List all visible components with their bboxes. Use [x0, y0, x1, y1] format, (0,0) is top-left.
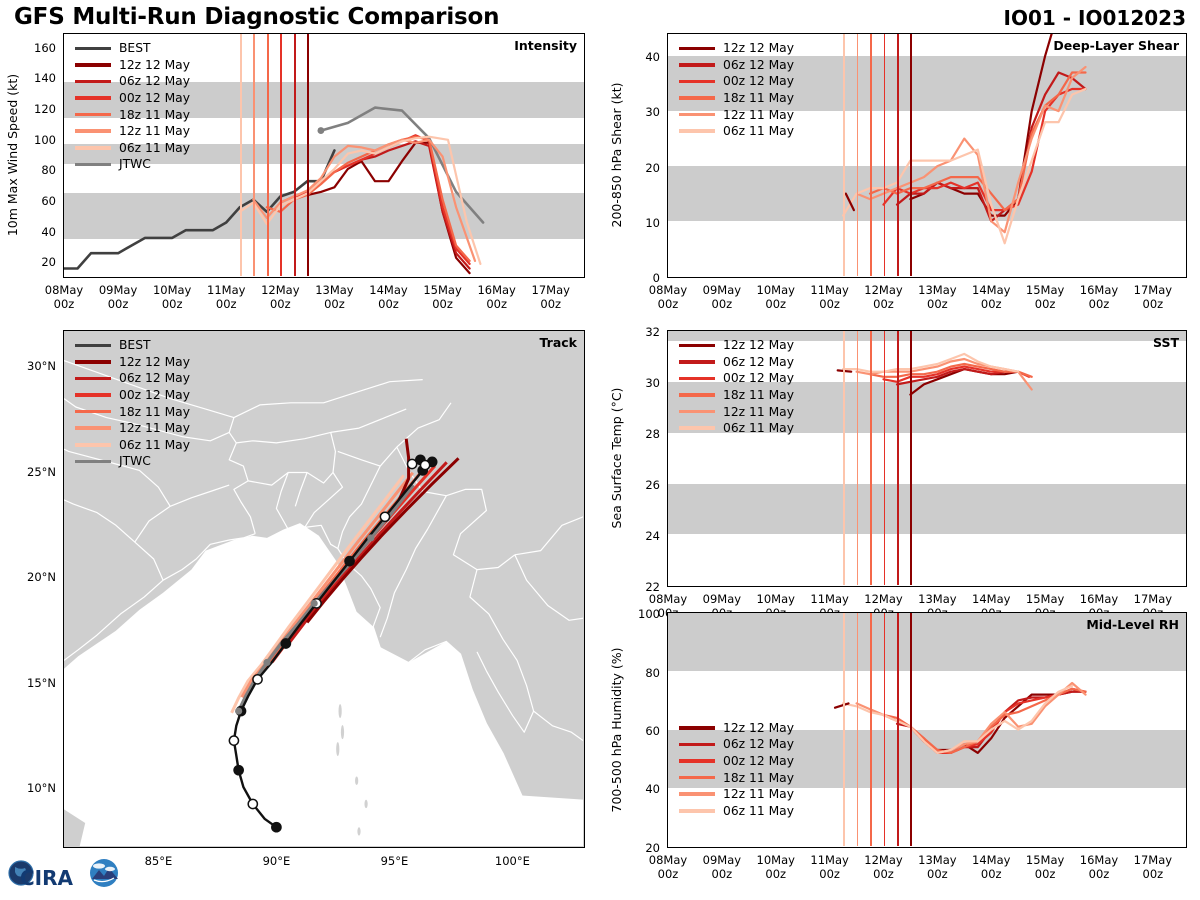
init-time-line-12z-11-may: [253, 34, 255, 276]
init-time-line-12z-12-may: [910, 34, 912, 276]
legend-color-swatch: [75, 426, 111, 430]
sst-ytick-30: 30: [645, 376, 660, 390]
sst-ytick-26: 26: [645, 478, 660, 492]
intensity-legend-item-6[interactable]: 06z 11 May: [75, 140, 190, 157]
jtwc-start-marker: [317, 127, 324, 134]
rh-legend-item-4[interactable]: 12z 11 May: [679, 786, 794, 803]
legend-label: 18z 11 May: [723, 388, 794, 402]
series-06z-11-may: [843, 686, 1072, 753]
rh-xtick-14May: 14May00z: [972, 853, 1010, 881]
shear-xtick-10May: 10May00z: [757, 283, 795, 311]
shear-xtick-09May: 09May00z: [703, 283, 741, 311]
intensity-xtick-08May: 08May00z: [45, 283, 83, 311]
legend-color-swatch: [679, 47, 715, 51]
rh-legend: 12z 12 May06z 12 May00z 12 May18z 11 May…: [679, 719, 794, 819]
legend-color-swatch: [75, 96, 111, 100]
shear-legend-item-2[interactable]: 00z 12 May: [679, 73, 794, 90]
track-ytick-10: 10°N: [27, 781, 56, 795]
legend-label: 00z 12 May: [723, 754, 794, 768]
rh-xtick-13May: 13May00z: [918, 853, 956, 881]
intensity-legend-item-5[interactable]: 12z 11 May: [75, 123, 190, 140]
track-legend-item-5[interactable]: 12z 11 May: [75, 420, 190, 437]
shear-ytick-10: 10: [645, 216, 660, 230]
andaman-nicobar-island: [364, 800, 367, 808]
track-legend-item-4[interactable]: 18z 11 May: [75, 403, 190, 420]
legend-color-swatch: [679, 63, 715, 67]
legend-color-swatch: [679, 759, 715, 763]
jtwc-track-marker: [311, 600, 318, 607]
init-time-line-18z-11-may: [870, 34, 872, 276]
andaman-nicobar-island: [339, 704, 342, 718]
rh-xtick-09May: 09May00z: [703, 853, 741, 881]
sst-legend-item-5[interactable]: 06z 11 May: [679, 420, 794, 437]
shear-xtick-08May: 08May00z: [649, 283, 687, 311]
rh-ytick-60: 60: [645, 724, 660, 738]
init-time-line-12z-11-may: [857, 613, 859, 846]
panel-sst: SST222426283032Sea Surface Temp (°C)08Ma…: [667, 330, 1187, 587]
sst-legend-item-2[interactable]: 00z 12 May: [679, 370, 794, 387]
rh-xtick-08May: 08May00z: [649, 853, 687, 881]
intensity-ytick-80: 80: [41, 163, 56, 177]
legend-label: 00z 12 May: [723, 74, 794, 88]
best-track-marker-open: [248, 799, 257, 808]
legend-label: 12z 12 May: [119, 355, 190, 369]
best-track-marker-open: [380, 512, 389, 521]
rh-ytick-40: 40: [645, 782, 660, 796]
track-ytick-30: 30°N: [27, 359, 56, 373]
track-legend-item-3[interactable]: 00z 12 May: [75, 387, 190, 404]
andaman-nicobar-island: [341, 725, 344, 739]
init-time-line-12z-12-may: [910, 331, 912, 585]
init-time-line-06z-12-may: [897, 34, 899, 276]
legend-label: 00z 12 May: [119, 91, 190, 105]
legend-color-swatch: [679, 743, 715, 747]
legend-label: 12z 12 May: [119, 58, 190, 72]
panel-track: 10°N15°N20°N25°N30°N85°E90°E95°E100°ETra…: [63, 330, 585, 848]
legend-label: 12z 11 May: [119, 124, 190, 138]
best-track-marker-filled: [234, 766, 243, 775]
legend-label: 12z 11 May: [119, 421, 190, 435]
legend-label: 00z 12 May: [119, 388, 190, 402]
track-legend-item-6[interactable]: 06z 11 May: [75, 437, 190, 454]
legend-label: 12z 11 May: [723, 405, 794, 419]
andaman-nicobar-island: [355, 777, 358, 785]
legend-label: 12z 12 May: [723, 721, 794, 735]
series-best-segment: [835, 703, 849, 707]
init-time-line-06z-11-may: [843, 613, 845, 846]
track-ytick-15: 15°N: [27, 676, 56, 690]
intensity-legend-item-2[interactable]: 06z 12 May: [75, 73, 190, 90]
legend-label: 12z 11 May: [723, 787, 794, 801]
legend-color-swatch: [679, 776, 715, 780]
track-panel-label: Track: [540, 335, 577, 350]
jtwc-track-marker: [235, 707, 242, 714]
init-time-line-06z-11-may: [240, 34, 242, 276]
best-track-marker-filled: [272, 823, 281, 832]
legend-label: 06z 12 May: [119, 74, 190, 88]
shear-legend-item-0[interactable]: 12z 12 May: [679, 40, 794, 57]
legend-label: 06z 11 May: [723, 804, 794, 818]
rh-legend-item-0[interactable]: 12z 12 May: [679, 719, 794, 736]
sst-ytick-28: 28: [645, 427, 660, 441]
legend-color-swatch: [75, 80, 111, 84]
rh-legend-item-3[interactable]: 18z 11 May: [679, 769, 794, 786]
sst-ytick-24: 24: [645, 529, 660, 543]
intensity-ylabel: 10m Max Wind Speed (kt): [5, 74, 20, 236]
shear-legend-item-3[interactable]: 18z 11 May: [679, 90, 794, 107]
andaman-nicobar-island: [357, 827, 360, 835]
shear-xtick-14May: 14May00z: [972, 283, 1010, 311]
bay-of-bengal-water: [64, 523, 583, 846]
intensity-xtick-17May: 17May00z: [532, 283, 570, 311]
jtwc-track-marker: [367, 534, 374, 541]
map-boundary-13: [534, 711, 584, 741]
intensity-xtick-13May: 13May00z: [315, 283, 353, 311]
intensity-ytick-120: 120: [34, 102, 56, 116]
series-12z-11-may: [857, 67, 1086, 232]
legend-color-swatch: [75, 377, 111, 381]
track-legend-item-2[interactable]: 06z 12 May: [75, 370, 190, 387]
init-time-line-12z-11-may: [857, 331, 859, 585]
legend-label: 06z 12 May: [723, 737, 794, 751]
shear-legend: 12z 12 May06z 12 May00z 12 May18z 11 May…: [679, 40, 794, 140]
sst-ytick-32: 32: [645, 325, 660, 339]
sst-panel-label: SST: [1153, 335, 1179, 350]
map-boundary-16: [135, 485, 229, 542]
legend-color-swatch: [679, 792, 715, 796]
track-xtick-95: 95°E: [381, 854, 409, 868]
map-boundary-1: [229, 409, 406, 443]
legend-label: BEST: [119, 338, 151, 352]
rh-ytick-80: 80: [645, 666, 660, 680]
best-track-marker-open: [229, 736, 238, 745]
legend-label: 06z 11 May: [119, 141, 190, 155]
shear-panel-label: Deep-Layer Shear: [1053, 38, 1179, 53]
shear-xtick-15May: 15May00z: [1026, 283, 1064, 311]
sst-legend-item-0[interactable]: 12z 12 May: [679, 337, 794, 354]
svg-text:CIRA: CIRA: [20, 866, 74, 890]
figure-root: GFS Multi-Run Diagnostic Comparison IO01…: [0, 0, 1200, 900]
init-time-line-00z-12-may: [884, 331, 886, 585]
shear-xtick-12May: 12May00z: [864, 283, 902, 311]
shear-legend-item-4[interactable]: 12z 11 May: [679, 106, 794, 123]
init-time-line-12z-11-may: [857, 34, 859, 276]
init-time-line-00z-12-may: [884, 34, 886, 276]
legend-label: JTWC: [119, 157, 151, 171]
legend-color-swatch: [679, 113, 715, 117]
cira-logo: CIRA: [6, 852, 126, 894]
intensity-legend-item-0[interactable]: BEST: [75, 40, 190, 57]
track-xtick-85: 85°E: [145, 854, 173, 868]
panel-intensity: Intensity2040608010012014016010m Max Win…: [63, 33, 585, 278]
shear-xtick-16May: 16May00z: [1080, 283, 1118, 311]
shear-xtick-17May: 17May00z: [1134, 283, 1172, 311]
panel-rh: Mid-Level RH20406080100700-500 hPa Humid…: [667, 612, 1187, 848]
map-boundary-19: [276, 473, 290, 534]
jtwc-track-marker: [263, 659, 270, 666]
legend-color-swatch: [75, 460, 111, 464]
init-time-line-06z-12-may: [294, 34, 296, 276]
legend-color-swatch: [679, 80, 715, 84]
track-ytick-25: 25°N: [27, 465, 56, 479]
track-ytick-20: 20°N: [27, 570, 56, 584]
rh-xtick-16May: 16May00z: [1080, 853, 1118, 881]
intensity-ytick-20: 20: [41, 255, 56, 269]
legend-color-swatch: [679, 360, 715, 364]
intensity-ytick-40: 40: [41, 225, 56, 239]
sst-legend-item-4[interactable]: 12z 11 May: [679, 403, 794, 420]
legend-label: 06z 12 May: [119, 371, 190, 385]
legend-color-swatch: [75, 47, 111, 51]
rh-xtick-10May: 10May00z: [757, 853, 795, 881]
rh-legend-item-5[interactable]: 06z 11 May: [679, 802, 794, 819]
rh-xtick-15May: 15May00z: [1026, 853, 1064, 881]
shear-legend-item-5[interactable]: 06z 11 May: [679, 123, 794, 140]
legend-color-swatch: [679, 96, 715, 100]
init-time-line-18z-11-may: [870, 613, 872, 846]
rh-xtick-11May: 11May00z: [810, 853, 848, 881]
page-title: GFS Multi-Run Diagnostic Comparison: [14, 4, 499, 30]
init-time-line-00z-12-may: [884, 613, 886, 846]
legend-label: JTWC: [119, 454, 151, 468]
legend-color-swatch: [75, 129, 111, 133]
init-time-line-06z-12-may: [897, 331, 899, 585]
legend-label: 18z 11 May: [119, 108, 190, 122]
map-boundary-7: [338, 403, 451, 466]
legend-label: 18z 11 May: [119, 405, 190, 419]
legend-label: 06z 11 May: [723, 421, 794, 435]
rh-legend-item-1[interactable]: 06z 12 May: [679, 736, 794, 753]
map-boundary-15: [64, 500, 163, 580]
rh-panel-label: Mid-Level RH: [1086, 617, 1179, 632]
init-time-line-18z-11-may: [267, 34, 269, 276]
intensity-ytick-60: 60: [41, 194, 56, 208]
intensity-xtick-16May: 16May00z: [477, 283, 515, 311]
legend-label: 12z 12 May: [723, 338, 794, 352]
intensity-xtick-11May: 11May00z: [207, 283, 245, 311]
intensity-legend: BEST12z 12 May06z 12 May00z 12 May18z 11…: [75, 40, 190, 173]
legend-color-swatch: [75, 113, 111, 117]
sst-legend-item-1[interactable]: 06z 12 May: [679, 354, 794, 371]
sst-legend: 12z 12 May06z 12 May00z 12 May18z 11 May…: [679, 337, 794, 437]
intensity-xtick-15May: 15May00z: [423, 283, 461, 311]
legend-label: 06z 12 May: [723, 355, 794, 369]
legend-color-swatch: [679, 809, 715, 813]
track-legend-item-0[interactable]: BEST: [75, 337, 190, 354]
legend-color-swatch: [75, 63, 111, 67]
sst-ylabel: Sea Surface Temp (°C): [609, 388, 624, 529]
track-xtick-90: 90°E: [263, 854, 291, 868]
track-legend: BEST12z 12 May06z 12 May00z 12 May18z 11…: [75, 337, 190, 470]
intensity-legend-item-4[interactable]: 18z 11 May: [75, 106, 190, 123]
track-endpoint-marker: [408, 459, 417, 468]
intensity-ytick-140: 140: [34, 71, 56, 85]
legend-label: 12z 12 May: [723, 41, 794, 55]
legend-color-swatch: [679, 393, 715, 397]
intensity-xtick-10May: 10May00z: [153, 283, 191, 311]
legend-label: 06z 11 May: [119, 438, 190, 452]
legend-label: 00z 12 May: [723, 371, 794, 385]
legend-color-swatch: [679, 426, 715, 430]
andaman-nicobar-island: [336, 742, 339, 756]
intensity-legend-item-7[interactable]: JTWC: [75, 156, 190, 173]
init-time-line-06z-11-may: [843, 34, 845, 276]
track-endpoint-marker: [420, 460, 429, 469]
intensity-ytick-160: 160: [34, 41, 56, 55]
shear-ytick-30: 30: [645, 105, 660, 119]
panel-shear: Deep-Layer Shear010203040200-850 hPa She…: [667, 33, 1187, 278]
shear-ytick-40: 40: [645, 50, 660, 64]
rh-legend-item-2[interactable]: 00z 12 May: [679, 753, 794, 770]
legend-color-swatch: [679, 344, 715, 348]
init-time-line-12z-12-may: [910, 613, 912, 846]
intensity-panel-label: Intensity: [514, 38, 577, 53]
rh-ylabel: 700-500 hPa Humidity (%): [609, 647, 624, 812]
init-time-line-00z-12-may: [280, 34, 282, 276]
legend-color-swatch: [75, 410, 111, 414]
legend-color-swatch: [679, 726, 715, 730]
legend-label: 06z 11 May: [723, 124, 794, 138]
rh-xtick-12May: 12May00z: [864, 853, 902, 881]
legend-color-swatch: [75, 360, 111, 364]
best-track-marker-filled: [281, 639, 290, 648]
rh-ytick-100: 100: [638, 607, 660, 621]
intensity-ytick-100: 100: [34, 133, 56, 147]
rh-xtick-17May: 17May00z: [1134, 853, 1172, 881]
legend-label: 12z 11 May: [723, 108, 794, 122]
shear-xtick-11May: 11May00z: [810, 283, 848, 311]
legend-label: 18z 11 May: [723, 771, 794, 785]
legend-color-swatch: [75, 344, 111, 348]
legend-color-swatch: [75, 443, 111, 447]
init-time-line-06z-12-may: [897, 613, 899, 846]
storm-id-label: IO01 - IO012023: [1004, 6, 1186, 30]
sst-legend-item-3[interactable]: 18z 11 May: [679, 387, 794, 404]
intensity-legend-item-1[interactable]: 12z 12 May: [75, 57, 190, 74]
intensity-xtick-14May: 14May00z: [369, 283, 407, 311]
shear-legend-item-1[interactable]: 06z 12 May: [679, 57, 794, 74]
best-track-marker-open: [253, 675, 262, 684]
track-legend-item-7[interactable]: JTWC: [75, 453, 190, 470]
track-legend-item-1[interactable]: 12z 12 May: [75, 354, 190, 371]
map-boundary-3: [229, 443, 255, 534]
map-boundary-20: [295, 473, 307, 507]
legend-color-swatch: [75, 146, 111, 150]
init-time-line-06z-11-may: [843, 331, 845, 585]
best-track-marker-filled: [345, 557, 354, 566]
legend-color-swatch: [679, 129, 715, 133]
shear-ytick-20: 20: [645, 161, 660, 175]
legend-color-swatch: [679, 377, 715, 381]
legend-color-swatch: [75, 163, 111, 167]
shear-ylabel: 200-850 hPa Shear (kt): [609, 83, 624, 228]
legend-label: 06z 12 May: [723, 58, 794, 72]
legend-label: 18z 11 May: [723, 91, 794, 105]
legend-label: BEST: [119, 41, 151, 55]
intensity-xtick-12May: 12May00z: [261, 283, 299, 311]
intensity-xtick-09May: 09May00z: [99, 283, 137, 311]
init-time-line-12z-12-may: [307, 34, 309, 276]
map-boundary-11: [515, 555, 583, 621]
init-time-line-18z-11-may: [870, 331, 872, 585]
track-xtick-100: 100°E: [495, 854, 530, 868]
shear-xtick-13May: 13May00z: [918, 283, 956, 311]
map-boundary-10: [515, 517, 583, 555]
intensity-legend-item-3[interactable]: 00z 12 May: [75, 90, 190, 107]
series-06z-11-may: [843, 89, 1085, 243]
legend-color-swatch: [75, 393, 111, 397]
legend-color-swatch: [679, 410, 715, 414]
